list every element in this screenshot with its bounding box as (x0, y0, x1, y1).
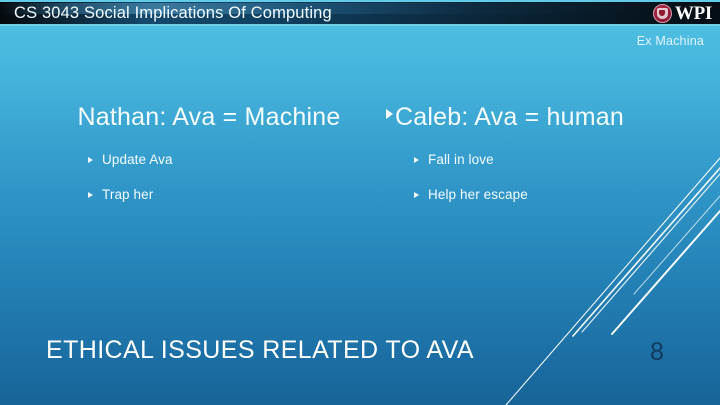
list-item: Help her escape (414, 186, 686, 204)
column-heading: Nathan: Ava = Machine (44, 100, 374, 134)
content-columns: Nathan: Ava = Machine Update Ava Trap he… (0, 100, 720, 230)
list-item-label: Trap her (102, 186, 153, 204)
sub-bullet-list: Fall in love Help her escape (414, 151, 686, 204)
list-item-label: Fall in love (428, 151, 494, 169)
wpi-logo: WPI (653, 1, 712, 25)
slide-header-bar: CS 3043 Social Implications Of Computing… (0, 0, 720, 26)
presentation-slide: CS 3043 Social Implications Of Computing… (0, 0, 720, 405)
list-item: Fall in love (414, 151, 686, 169)
column-heading-text: Caleb: Ava = human (395, 100, 624, 134)
slide-subtitle: Ex Machina (637, 34, 704, 48)
list-item: Update Ava (88, 151, 374, 169)
triangle-bullet-icon (88, 157, 93, 163)
column-heading-text: Nathan: Ava = Machine (78, 100, 341, 134)
column-nathan: Nathan: Ava = Machine Update Ava Trap he… (44, 100, 374, 221)
column-heading: Caleb: Ava = human (386, 100, 686, 134)
triangle-bullet-icon (414, 157, 419, 163)
triangle-bullet-icon (414, 192, 419, 198)
column-caleb: Caleb: Ava = human Fall in love Help her… (386, 100, 686, 221)
list-item-label: Update Ava (102, 151, 173, 169)
page-number: 8 (650, 336, 664, 368)
list-item: Trap her (88, 186, 374, 204)
wpi-wordmark: WPI (675, 4, 712, 23)
triangle-bullet-icon (88, 192, 93, 198)
course-title: CS 3043 Social Implications Of Computing (14, 2, 332, 24)
list-item-label: Help her escape (428, 186, 528, 204)
triangle-bullet-icon (386, 109, 393, 119)
slide-title: ETHICAL ISSUES RELATED TO AVA (46, 334, 474, 366)
wpi-seal-icon (653, 4, 672, 23)
sub-bullet-list: Update Ava Trap her (88, 151, 374, 204)
